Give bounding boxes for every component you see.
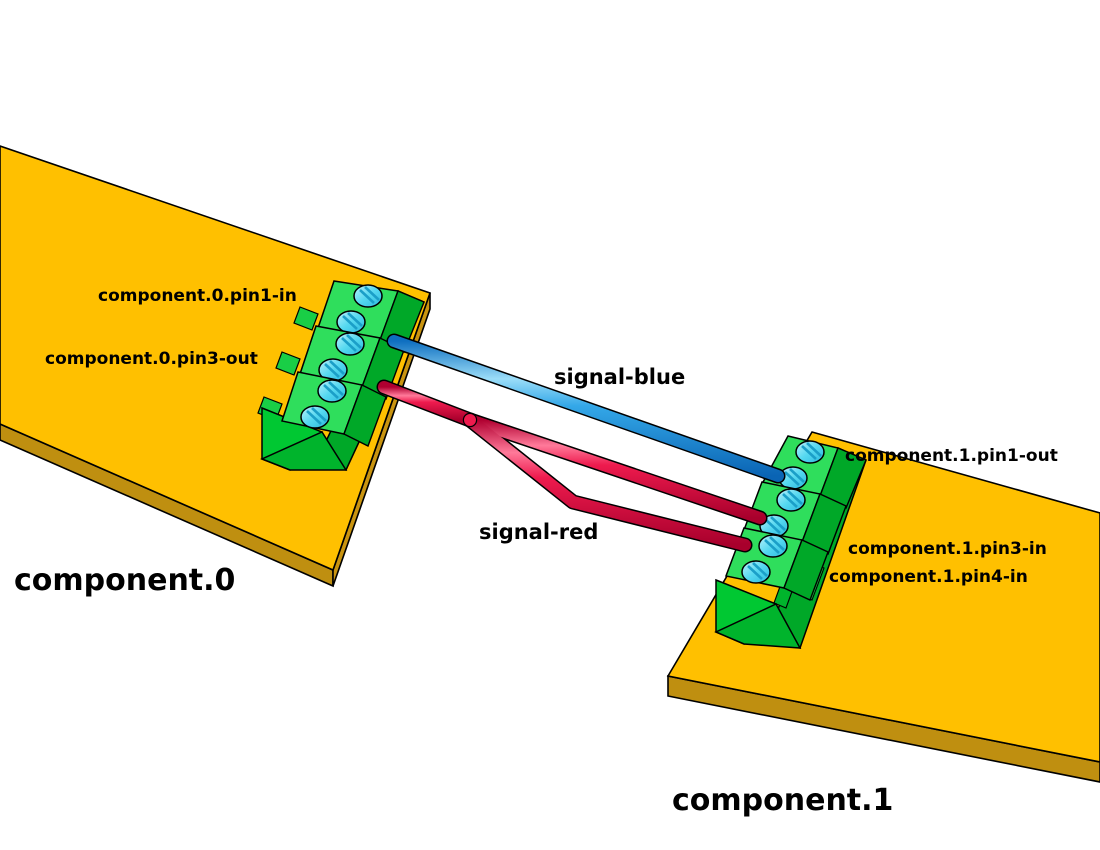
- pin-label-component-1-pin1-out: component.1.pin1-out: [845, 446, 1058, 466]
- pin-label-component-0-pin3-out: component.0.pin3-out: [45, 349, 258, 369]
- signal-label-signal-blue: signal-blue: [554, 365, 685, 389]
- board-label-component-1: component.1: [672, 783, 893, 818]
- board-label-component-0: component.0: [14, 563, 235, 598]
- pin-label-component-1-pin3-in: component.1.pin3-in: [848, 539, 1047, 559]
- wiring-diagram-svg: component.0.pin1-in component.0.pin3-out…: [0, 0, 1100, 850]
- pin-label-component-0-pin1-in: component.0.pin1-in: [98, 286, 297, 306]
- signal-label-signal-red: signal-red: [479, 520, 598, 544]
- pin-label-component-1-pin4-in: component.1.pin4-in: [829, 567, 1028, 587]
- diagram-canvas: component.0.pin1-in component.0.pin3-out…: [0, 0, 1100, 850]
- wire-red-branch-node: [463, 413, 476, 426]
- wire-red-leg-upper-fill: [470, 420, 760, 518]
